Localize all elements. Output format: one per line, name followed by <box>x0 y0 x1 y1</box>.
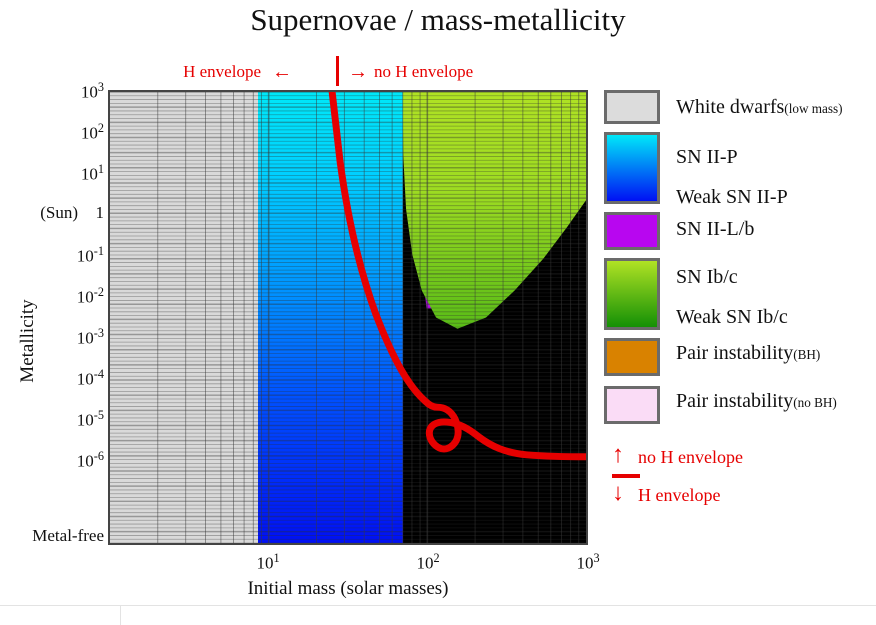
y-tick-10: Metal-free <box>0 527 104 544</box>
no-h-envelope-right-label: no H envelope <box>374 62 473 82</box>
legend-label-2: Weak SN II-P <box>676 186 788 209</box>
legend-label-6: Pair instability(BH) <box>676 342 820 365</box>
x-tick-100: 102 <box>398 552 458 572</box>
x-tick-10: 101 <box>238 552 298 572</box>
legend-swatch-7 <box>604 386 660 424</box>
page-title: Supernovae / mass-metallicity <box>0 2 876 38</box>
y-tick-5: 10-2 <box>0 286 104 306</box>
legend-swatch-3 <box>604 212 660 250</box>
up-arrow-icon: ↑ <box>612 443 624 467</box>
legend-swatch-4 <box>604 258 660 330</box>
legend-label-5: Weak SN Ib/c <box>676 306 788 329</box>
left-arrow-icon: ← <box>272 62 292 82</box>
legend-label-3: SN II-L/b <box>676 218 754 241</box>
down-arrow-icon: ↓ <box>612 481 624 505</box>
legend-swatch-6 <box>604 338 660 376</box>
legend-label-4: SN Ib/c <box>676 266 738 289</box>
x-tick-1000: 103 <box>558 552 618 572</box>
y-tick-2: 101 <box>0 163 104 183</box>
legend-swatch-0 <box>604 90 660 124</box>
y-tick-0: 103 <box>0 81 104 101</box>
legend-label-1: SN II-P <box>676 146 738 169</box>
y-tick-7: 10-4 <box>0 368 104 388</box>
annotation-divider <box>336 56 339 86</box>
no-h-envelope-key-label: no H envelope <box>638 447 743 468</box>
y-tick-9: 10-6 <box>0 450 104 470</box>
slide-footer-rule <box>0 605 876 606</box>
y-tick-6: 10-3 <box>0 327 104 347</box>
h-envelope-annotation: H envelope ← → no H envelope <box>108 62 588 88</box>
legend-label-0: White dwarfs(low mass) <box>676 96 843 119</box>
chart-plot-area <box>108 90 588 545</box>
y-axis-label: Metallicity <box>17 251 39 431</box>
h-envelope-left-label: H envelope <box>183 62 261 82</box>
x-axis-label: Initial mass (solar masses) <box>108 578 588 600</box>
key-divider-line <box>612 474 640 478</box>
slide-footer-tick <box>120 605 121 625</box>
y-tick-sun-note: (Sun) <box>0 204 104 221</box>
legend-swatch-1 <box>604 132 660 204</box>
y-tick-4: 10-1 <box>0 245 104 265</box>
y-tick-8: 10-5 <box>0 409 104 429</box>
legend-label-7: Pair instability(no BH) <box>676 390 837 413</box>
right-arrow-icon: → <box>348 62 368 82</box>
y-axis-ticks: 103102101110-110-210-310-410-510-6Metal-… <box>0 0 104 625</box>
h-envelope-boundary-curve <box>110 92 586 543</box>
h-envelope-key-label: H envelope <box>638 485 720 506</box>
y-tick-1: 102 <box>0 122 104 142</box>
